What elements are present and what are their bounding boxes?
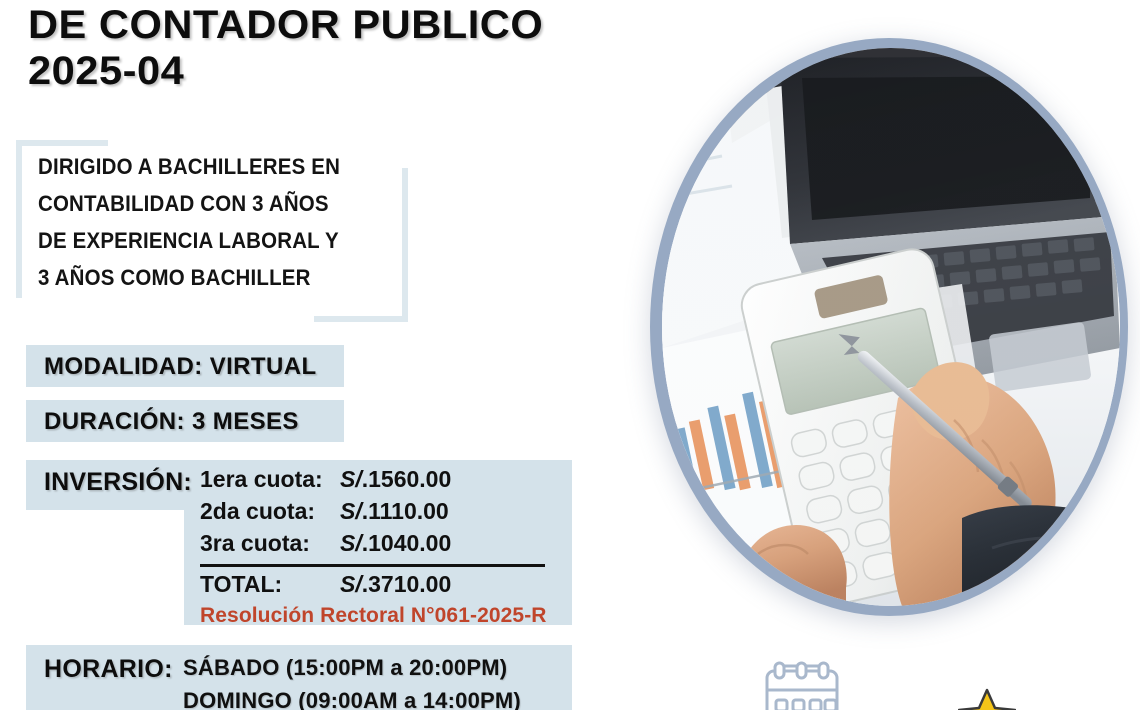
inversion-row-name: 1era cuota:: [200, 466, 340, 493]
star-icon: [958, 688, 1016, 710]
star-icon-svg: [958, 688, 1016, 710]
modalidad-label: MODALIDAD: VIRTUAL: [44, 353, 317, 381]
intro-line: CONTABILIDAD CON 3 AÑOS: [38, 185, 410, 222]
currency-symbol: S/: [340, 530, 362, 556]
duracion-label: DURACIÓN: 3 MESES: [44, 408, 299, 436]
bracket-left-segment: [16, 140, 22, 298]
resolucion-rectoral-text: Resolución Rectoral N°061-2025-R: [200, 604, 572, 628]
title-line-1: DE CONTADOR PUBLICO: [28, 2, 652, 48]
horario-label: HORARIO:: [44, 655, 173, 684]
bracket-top-segment: [16, 140, 108, 146]
intro-line: DIRIGIDO A BACHILLERES EN: [38, 148, 410, 185]
inversion-rows: 1era cuota: S/.1560.00 2da cuota: S/.111…: [200, 466, 572, 628]
photo-clip: [662, 48, 1120, 606]
intro-line: 3 AÑOS COMO BACHILLER: [38, 259, 410, 296]
horario-line: DOMINGO (09:00AM a 14:00PM): [183, 684, 653, 710]
currency-symbol: S/: [340, 466, 362, 492]
horario-line: SÁBADO (15:00PM a 20:00PM): [183, 651, 653, 684]
inversion-row-name: 2da cuota:: [200, 498, 340, 525]
calculator-photo-illustration: [662, 48, 1120, 606]
calendar-icon-svg: [762, 661, 842, 710]
inversion-total-amount: S/.3710.00: [340, 571, 451, 603]
poster-root: DE CONTADOR PUBLICO 2025-04 DIRIGIDO A B…: [0, 0, 1140, 710]
inversion-row: 3ra cuota: S/.1040.00: [200, 530, 572, 562]
inversion-total-label: TOTAL:: [200, 571, 340, 603]
amount-value: .3710.00: [362, 571, 452, 597]
photo-container: [650, 38, 1140, 628]
title-line-2: 2025-04: [28, 48, 652, 94]
poster-title: DE CONTADOR PUBLICO 2025-04: [28, 2, 628, 94]
intro-text-block: DIRIGIDO A BACHILLERES EN CONTABILIDAD C…: [38, 148, 438, 296]
inversion-label: INVERSIÓN:: [44, 468, 192, 497]
calendar-icon: [762, 661, 842, 710]
inversion-row: 1era cuota: S/.1560.00: [200, 466, 572, 498]
inversion-row-amount: S/.1040.00: [340, 530, 451, 557]
bracket-bottom-segment: [314, 316, 408, 322]
intro-line: DE EXPERIENCIA LABORAL Y: [38, 222, 410, 259]
inversion-total-row: TOTAL: S/.3710.00: [200, 571, 572, 603]
inversion-row-amount: S/.1110.00: [340, 498, 449, 525]
amount-value: .1110.00: [362, 498, 449, 524]
inversion-row-name: 3ra cuota:: [200, 530, 340, 557]
inversion-row-amount: S/.1560.00: [340, 466, 451, 493]
inversion-row: 2da cuota: S/.1110.00: [200, 498, 572, 530]
amount-value: .1040.00: [362, 530, 452, 556]
inversion-divider: [200, 564, 545, 567]
currency-symbol: S/: [340, 498, 362, 524]
amount-value: .1560.00: [362, 466, 452, 492]
currency-symbol: S/: [340, 571, 362, 597]
horario-lines: SÁBADO (15:00PM a 20:00PM) DOMINGO (09:0…: [183, 651, 653, 710]
